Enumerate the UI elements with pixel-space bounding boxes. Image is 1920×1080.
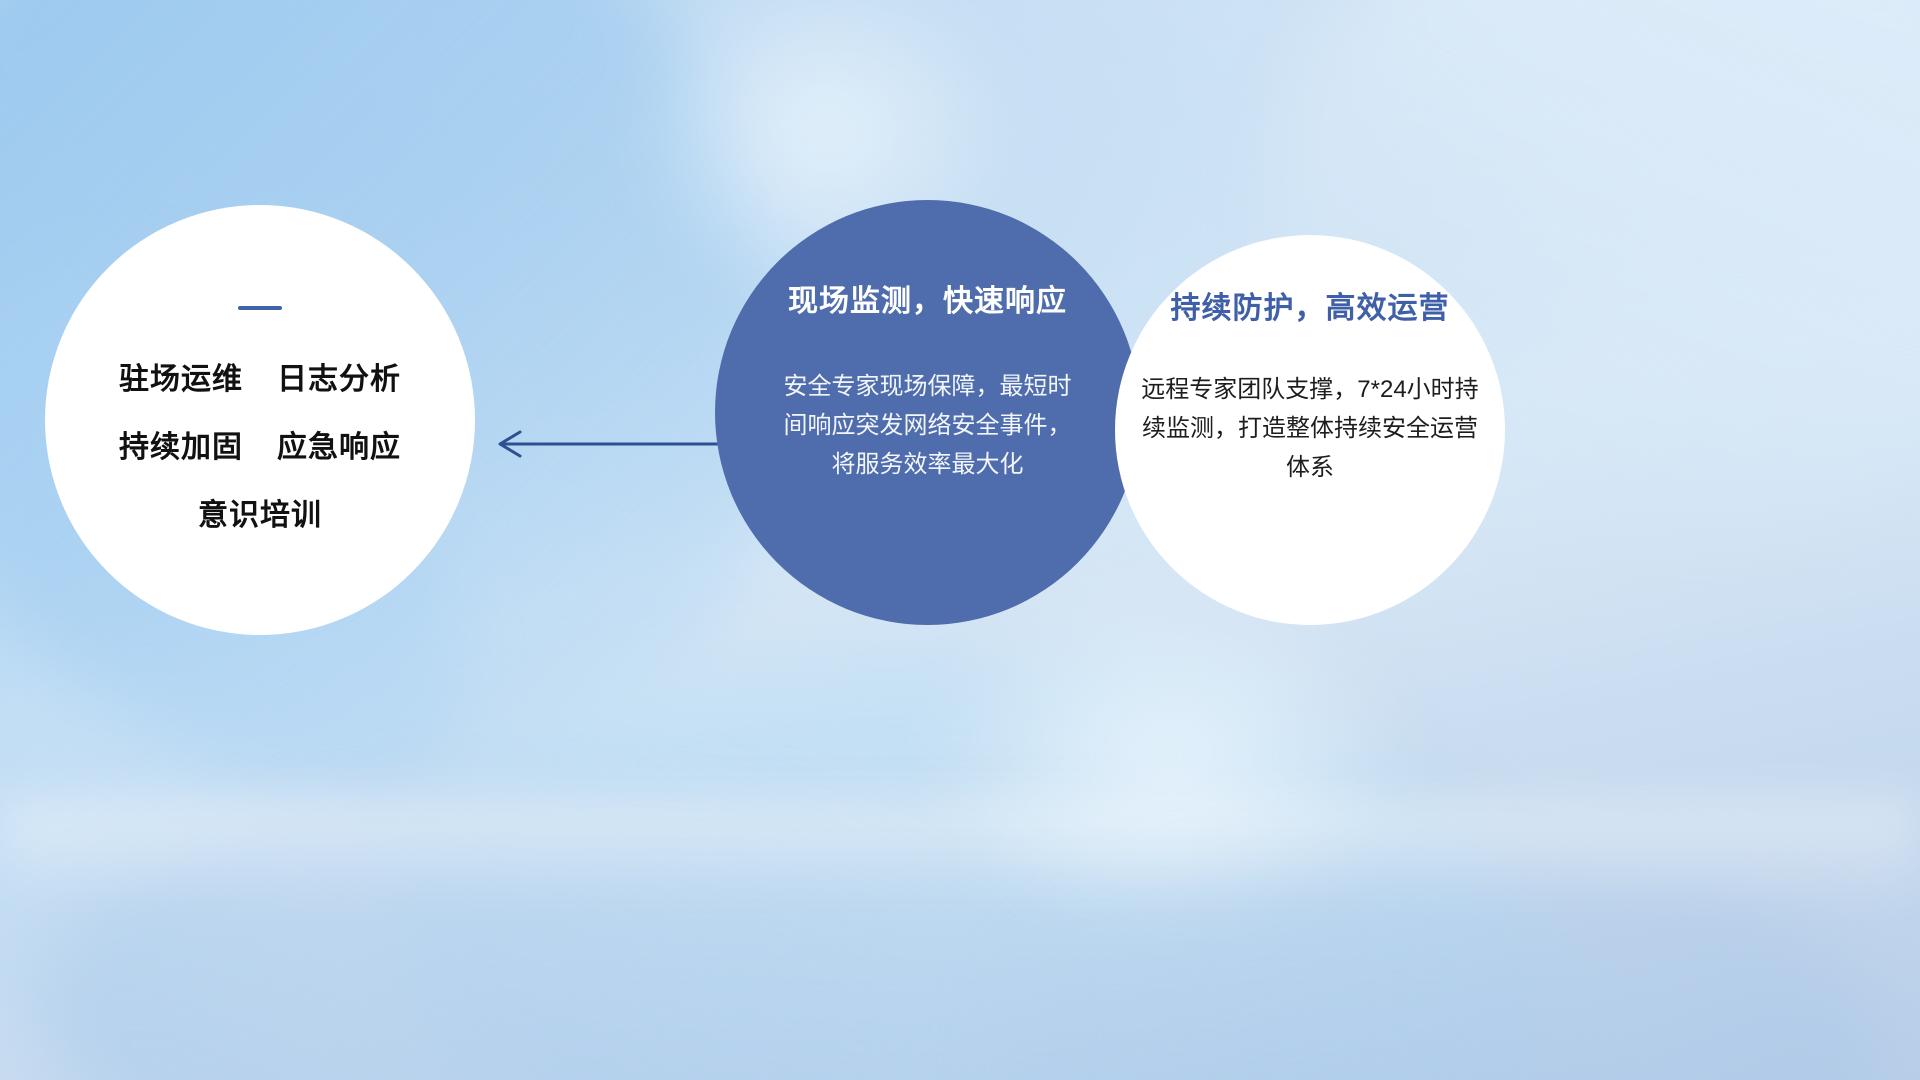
capability-tag[interactable]: 日志分析	[277, 354, 401, 398]
capability-tag[interactable]: 应急响应	[277, 422, 401, 466]
capability-tag[interactable]: 意识培训	[198, 490, 322, 534]
service-capabilities-circle[interactable]: 驻场运维 日志分析 持续加固 应急响应 意识培训	[45, 205, 475, 635]
background-horizon-sheen	[0, 799, 1920, 907]
capability-row: 驻场运维 日志分析	[119, 354, 401, 398]
capability-tag[interactable]: 驻场运维	[119, 354, 243, 398]
capability-row: 持续加固 应急响应	[119, 422, 401, 466]
onsite-monitoring-body: 安全专家现场保障，最短时间响应突发网络安全事件，将服务效率最大化	[778, 368, 1078, 485]
continuous-protection-title: 持续防护，高效运营	[1171, 283, 1450, 327]
divider-dash	[238, 306, 282, 310]
continuous-protection-body: 远程专家团队支撑，7*24小时持续监测，打造整体持续安全运营体系	[1140, 371, 1480, 488]
capability-list: 驻场运维 日志分析 持续加固 应急响应 意识培训	[119, 354, 401, 534]
onsite-monitoring-circle[interactable]: 现场监测，快速响应 安全专家现场保障，最短时间响应突发网络安全事件，将服务效率最…	[715, 200, 1140, 625]
onsite-monitoring-title: 现场监测，快速响应	[788, 276, 1067, 320]
capability-row: 意识培训	[198, 490, 322, 534]
capability-tag[interactable]: 持续加固	[119, 422, 243, 466]
arrow-connector-left	[480, 418, 740, 470]
continuous-protection-circle[interactable]: 持续防护，高效运营 远程专家团队支撑，7*24小时持续监测，打造整体持续安全运营…	[1115, 235, 1505, 625]
